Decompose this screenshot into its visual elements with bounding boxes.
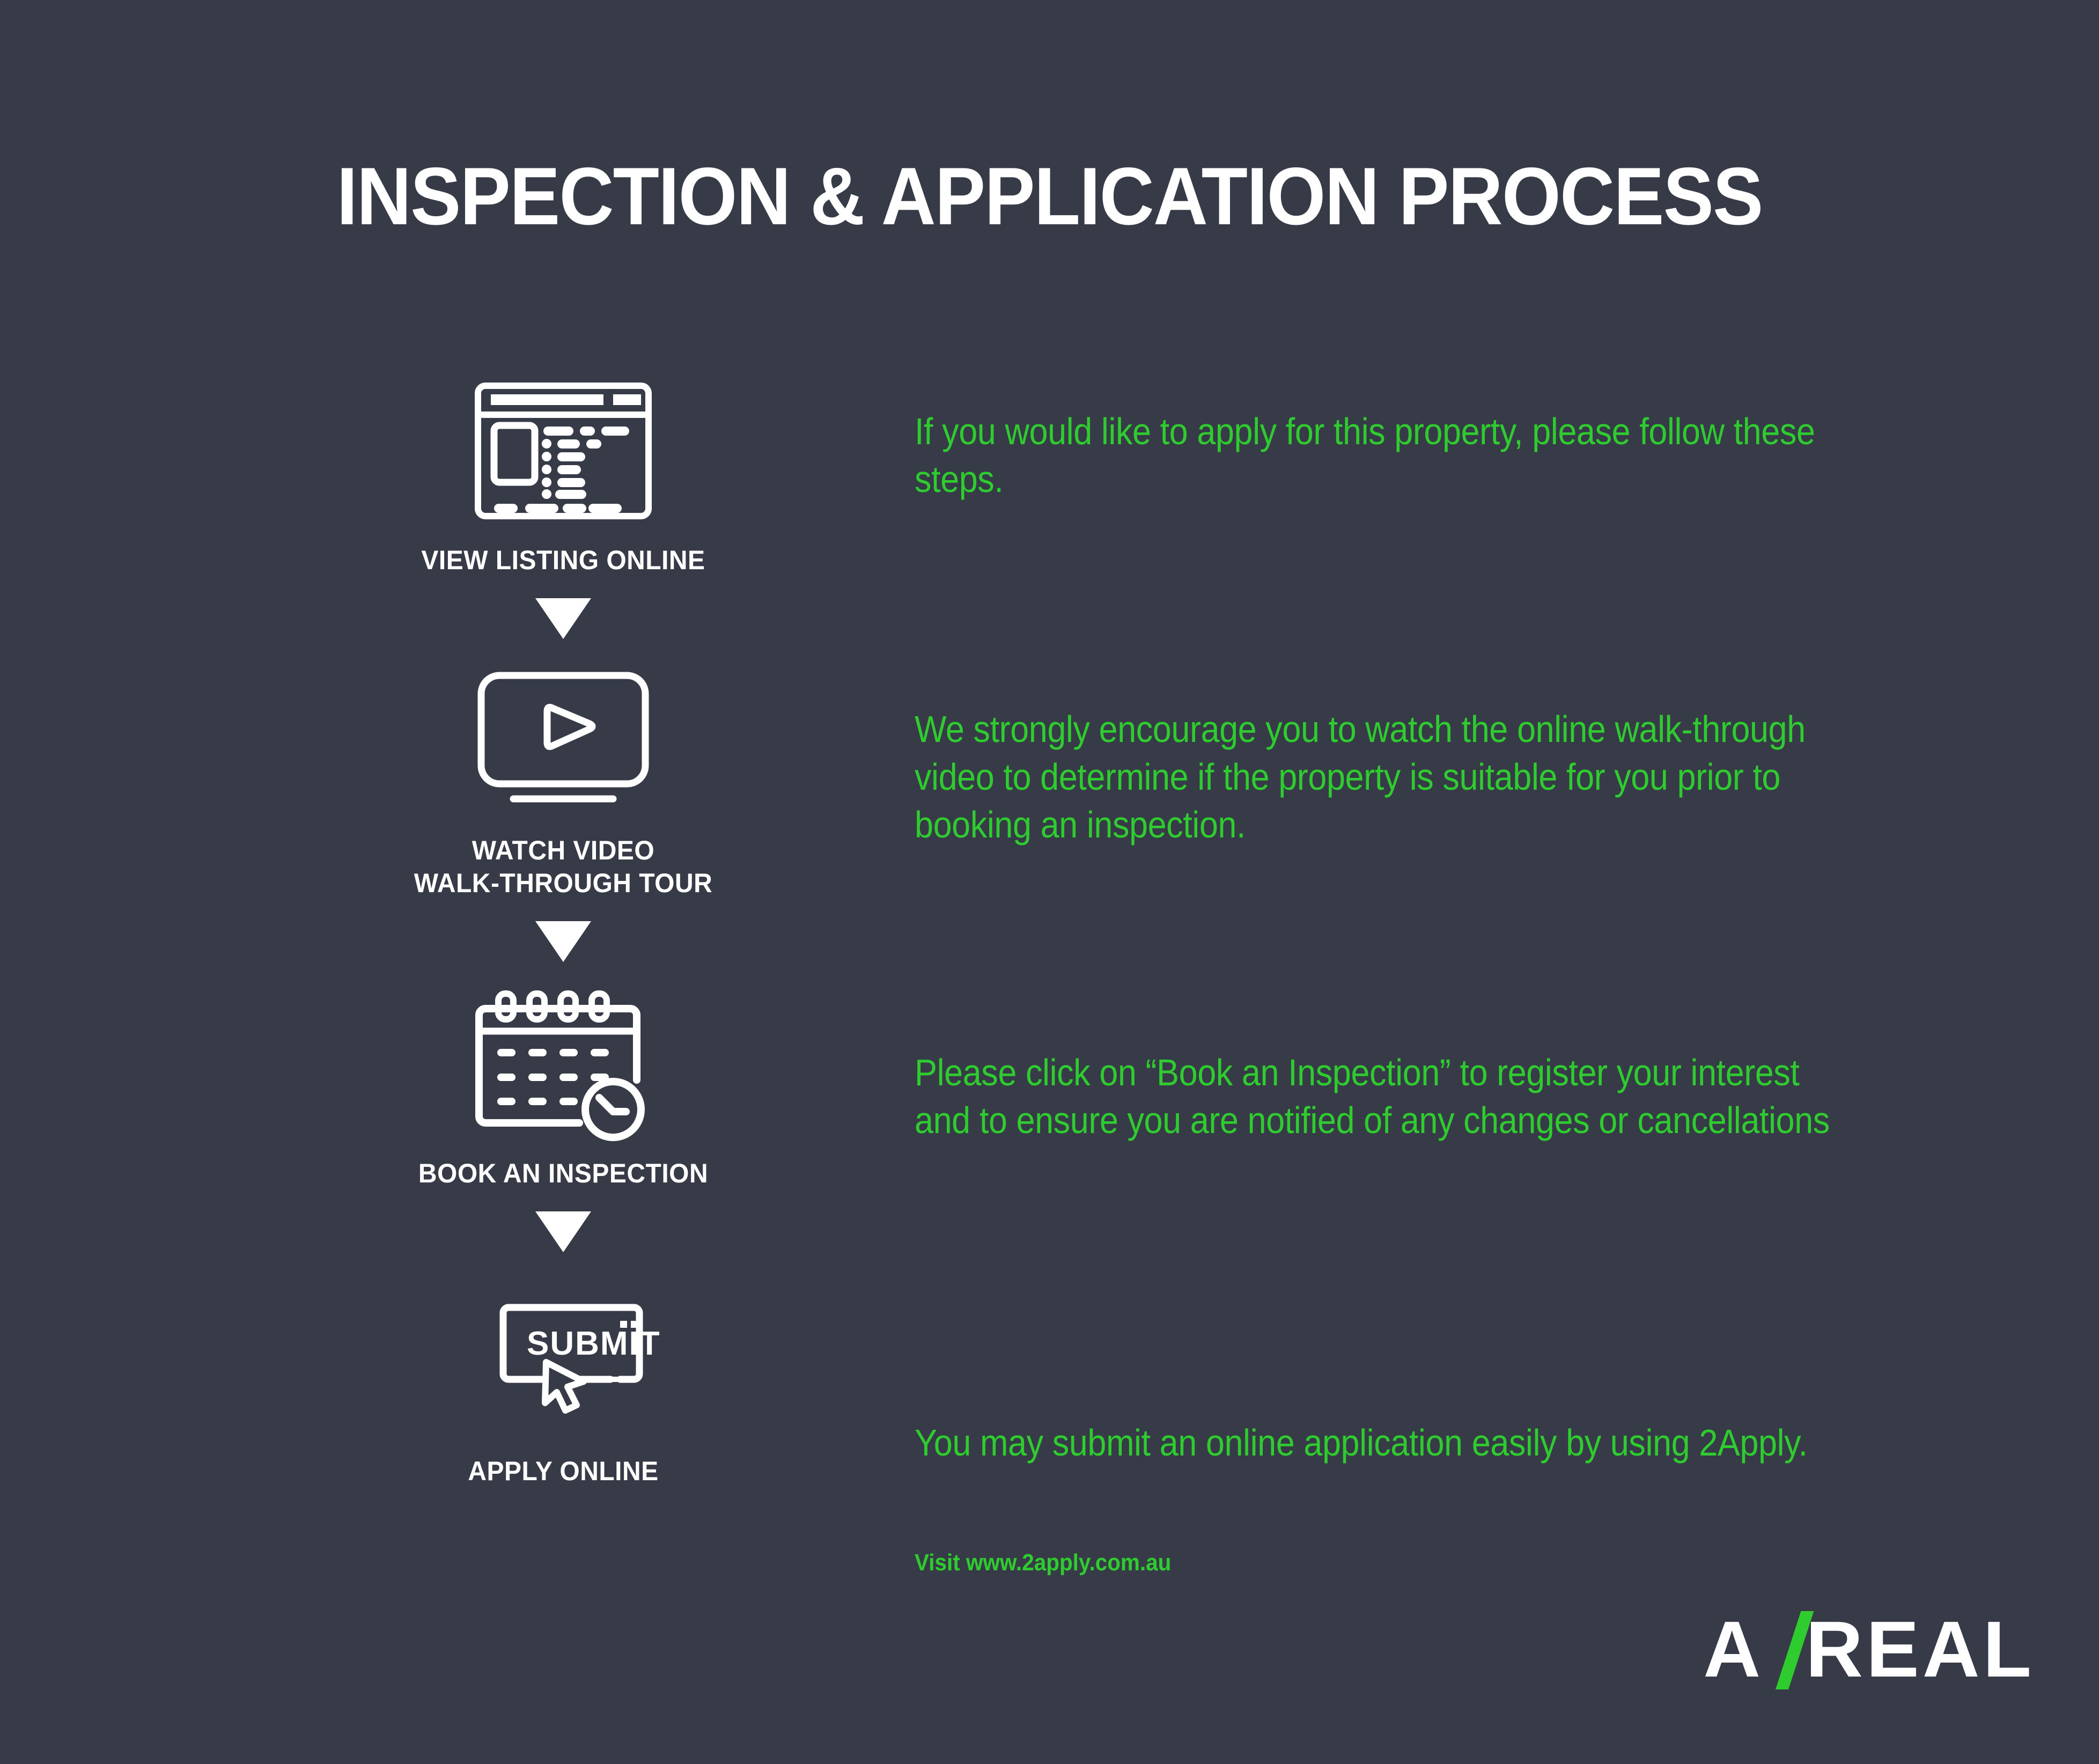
listing-window-icon <box>343 370 783 531</box>
step-view-listing: VIEW LISTING ONLINE <box>343 370 783 577</box>
step-label-watch-video: WATCH VIDEO WALK-THROUGH TOUR <box>352 834 774 900</box>
video-play-screen-icon <box>343 660 783 821</box>
process-steps-column: VIEW LISTING ONLINE WATCH VIDEO WALK-THR… <box>343 370 783 1488</box>
triangle-down-icon <box>535 1211 591 1252</box>
copy-inspection: Please click on “Book an Inspection” to … <box>915 1049 1856 1144</box>
logo-word-real: REAL <box>1806 1610 2035 1689</box>
flow-arrow-1 <box>343 598 783 639</box>
copy-apply: You may submit an online application eas… <box>915 1419 1856 1467</box>
triangle-down-icon <box>535 921 591 962</box>
step-label-apply-online: APPLY ONLINE <box>352 1455 774 1488</box>
logo-letter-a: A <box>1703 1610 1764 1689</box>
infographic-poster: INSPECTION & APPLICATION PROCESS <box>0 0 2099 1764</box>
slash-icon <box>1766 1610 1803 1689</box>
flow-arrow-3 <box>343 1211 783 1252</box>
step-label-watch-video-line1: WATCH VIDEO <box>352 834 774 867</box>
triangle-down-icon <box>535 598 591 639</box>
step-label-watch-video-line2: WALK-THROUGH TOUR <box>352 867 774 900</box>
step-book-inspection: BOOK AN INSPECTION <box>343 983 783 1190</box>
visit-url-text[interactable]: Visit www.2apply.com.au <box>915 1549 1171 1576</box>
submit-button-cursor-icon: SUBMIT <box>343 1274 783 1435</box>
brand-logo: A REAL <box>1703 1607 2035 1693</box>
step-label-book-inspection: BOOK AN INSPECTION <box>352 1157 774 1190</box>
step-watch-video: WATCH VIDEO WALK-THROUGH TOUR <box>343 660 783 900</box>
copy-intro: If you would like to apply for this prop… <box>915 408 1832 503</box>
copy-video: We strongly encourage you to watch the o… <box>915 705 1880 849</box>
submit-icon-text: SUBMIT <box>527 1325 660 1362</box>
step-apply-online: SUBMIT APPLY ONLINE <box>343 1274 783 1488</box>
flow-arrow-2 <box>343 921 783 962</box>
step-label-view-listing: VIEW LISTING ONLINE <box>352 544 774 577</box>
calendar-clock-icon <box>343 983 783 1144</box>
page-title: INSPECTION & APPLICATION PROCESS <box>73 156 2026 237</box>
